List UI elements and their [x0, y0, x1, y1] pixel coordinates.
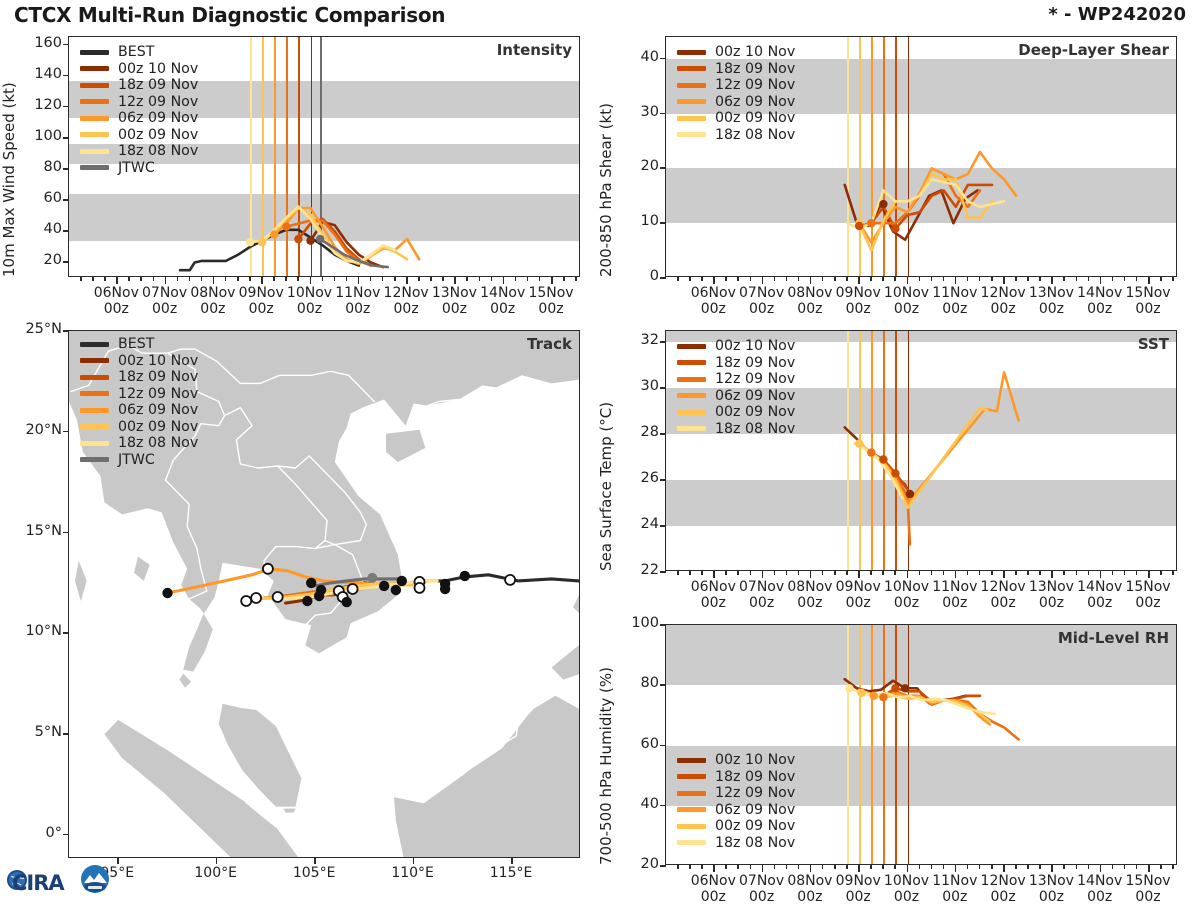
legend-swatch: [80, 83, 109, 88]
xtick-hour: 00z: [152, 301, 177, 317]
init-marker-5: [306, 237, 314, 245]
ytick-label-shear-4: 40: [621, 49, 659, 65]
xtick-minor: [689, 277, 691, 281]
legend-label: BEST: [118, 336, 154, 353]
xtick-hour: 00z: [797, 595, 822, 611]
landmass-hainan: [386, 430, 425, 462]
xtick-minor: [394, 277, 396, 281]
xtick-minor: [1112, 277, 1114, 281]
xtick-minor: [1039, 277, 1041, 281]
legend-swatch: [677, 393, 706, 398]
legend-label: 06z 09 Nov: [715, 94, 795, 111]
legend-item-intensity-3: 12z 09 Nov: [80, 94, 198, 111]
xtick-mark: [907, 277, 909, 284]
xtick-minor: [677, 571, 679, 575]
legend-swatch: [677, 360, 706, 365]
xtick-minor: [1088, 277, 1090, 281]
legend-label: 00z 09 Nov: [715, 404, 795, 421]
xtick-minor: [798, 865, 800, 869]
legend-swatch: [677, 758, 706, 763]
xtick-minor: [1136, 865, 1138, 869]
xtick-minor: [189, 277, 191, 281]
track-marker-filled-6: [379, 581, 389, 591]
ytick-label-sst-0: 22: [621, 562, 659, 578]
xtick-mark: [713, 865, 715, 872]
legend-label: 00z 09 Nov: [715, 110, 795, 127]
legend-item-track-6: 18z 08 Nov: [80, 435, 198, 452]
legend-item-rh-4: 00z 09 Nov: [677, 818, 795, 835]
legend-swatch: [80, 441, 109, 446]
legend-item-track-3: 12z 09 Nov: [80, 386, 198, 403]
xtick-mark: [955, 571, 957, 578]
init-marker-2: [867, 219, 875, 227]
map-ytick-4: 20°N: [2, 422, 62, 438]
xtick-minor: [80, 277, 82, 281]
legend-swatch: [677, 426, 706, 431]
legend-label: 18z 09 Nov: [118, 369, 198, 386]
xtick-hour: 00z: [1087, 889, 1112, 905]
ytick-label-rh-0: 20: [621, 856, 659, 872]
legend-item-rh-0: 00z 10 Nov: [677, 752, 795, 769]
legend-swatch: [80, 391, 109, 396]
xtick-mark: [1100, 277, 1102, 284]
xtick-mark: [1100, 865, 1102, 872]
legend-swatch: [80, 424, 109, 429]
xtick-minor: [1027, 865, 1029, 869]
init-marker-1: [867, 448, 875, 456]
yaxis-label-sst: Sea Surface Temp (°C): [597, 402, 615, 571]
legend-swatch: [80, 165, 109, 170]
map-xtick-1: 100°E: [176, 865, 256, 881]
track-marker-open-5: [348, 584, 358, 594]
xtick-mark: [1148, 277, 1150, 284]
legend-swatch: [677, 83, 706, 88]
xtick-day: 15Nov: [1125, 873, 1170, 889]
legend-item-track-2: 18z 09 Nov: [80, 369, 198, 386]
ytick-label-sst-3: 28: [621, 424, 659, 440]
track-marker-open-2: [241, 596, 251, 606]
init-marker-1: [258, 238, 266, 246]
svg-text:CIRA: CIRA: [12, 871, 65, 895]
xtick-hour: 00z: [1135, 889, 1160, 905]
track-marker-open-9: [505, 575, 515, 585]
xtick-minor: [1088, 865, 1090, 869]
ytick-mark: [660, 745, 666, 747]
ytick-mark: [63, 168, 69, 170]
init-marker-0: [246, 238, 254, 246]
legend-swatch: [677, 807, 706, 812]
xtick-day: 15Nov: [1125, 579, 1170, 595]
xtick-hour: 00z: [991, 301, 1016, 317]
map-ytick-mark: [63, 733, 69, 735]
legend-item-intensity-0: BEST: [80, 44, 198, 61]
xtick-minor: [1039, 571, 1041, 575]
xtick-minor: [689, 865, 691, 869]
map-xtick-mark: [216, 858, 218, 864]
legend-label: 00z 10 Nov: [715, 338, 795, 355]
legend-item-track-5: 00z 09 Nov: [80, 419, 198, 436]
legend-swatch: [677, 840, 706, 845]
legend-intensity: BEST00z 10 Nov18z 09 Nov12z 09 Nov06z 09…: [80, 44, 198, 176]
map-ytick-1: 5°N: [2, 724, 62, 740]
track-marker-open-1: [251, 593, 261, 603]
ytick-mark: [660, 684, 666, 686]
ytick-mark: [660, 277, 666, 279]
legend-item-intensity-4: 06z 09 Nov: [80, 110, 198, 127]
init-marker-3: [879, 693, 887, 701]
xtick-minor: [466, 277, 468, 281]
xtick-minor: [479, 277, 481, 281]
ytick-label-rh-2: 60: [621, 736, 659, 752]
ytick-label-sst-4: 30: [621, 378, 659, 394]
xtick-minor: [846, 277, 848, 281]
xtick-minor: [737, 865, 739, 869]
xtick-minor: [870, 277, 872, 281]
xtick-minor: [249, 277, 251, 281]
xtick-mark: [1148, 865, 1150, 872]
landmass-andaman: [75, 561, 87, 601]
xtick-minor: [1160, 571, 1162, 575]
xtick-hour: 00z: [797, 889, 822, 905]
xtick-hour: 00z: [1135, 301, 1160, 317]
track-marker-jtwc: [367, 573, 377, 583]
ytick-label-intensity-0: 20: [24, 252, 62, 268]
panel-title-shear: Deep-Layer Shear: [1018, 41, 1169, 59]
xtick-minor: [894, 865, 896, 869]
series-06z-09-Nov: [859, 152, 1016, 242]
xtick-minor: [834, 865, 836, 869]
legend-track: BEST00z 10 Nov18z 09 Nov12z 09 Nov06z 09…: [80, 336, 198, 468]
xtick-minor: [1124, 277, 1126, 281]
xtick-minor: [882, 277, 884, 281]
track-marker-filled-10: [460, 571, 470, 581]
ytick-mark: [63, 261, 69, 263]
legend-swatch: [677, 410, 706, 415]
ytick-label-rh-3: 80: [621, 675, 659, 691]
yaxis-label-rh: 700-500 hPa Humidity (%): [597, 667, 615, 865]
xtick-minor: [967, 865, 969, 869]
xtick-minor: [737, 571, 739, 575]
xtick-mark: [503, 277, 505, 284]
init-marker-2: [879, 455, 887, 463]
xtick-mark: [1051, 865, 1053, 872]
xtick-minor: [322, 277, 324, 281]
xtick-label-shear-9: 15Nov00z: [1112, 285, 1184, 317]
xtick-hour: 00z: [749, 301, 774, 317]
legend-item-track-7: JTWC: [80, 452, 198, 469]
legend-rh: 00z 10 Nov18z 09 Nov12z 09 Nov06z 09 Nov…: [677, 752, 795, 851]
xtick-minor: [1027, 571, 1029, 575]
xtick-minor: [1015, 571, 1017, 575]
xtick-minor: [92, 277, 94, 281]
header-bar: CTCX Multi-Run Diagnostic Comparison * -…: [0, 0, 1200, 30]
xtick-minor: [846, 571, 848, 575]
xtick-minor: [919, 865, 921, 869]
track-marker-filled-5: [342, 597, 352, 607]
cira-logo: CIRA: [6, 858, 118, 898]
xtick-mark: [1051, 571, 1053, 578]
legend-label: 06z 09 Nov: [118, 402, 198, 419]
xtick-hour: 00z: [297, 301, 322, 317]
ytick-label-sst-2: 26: [621, 470, 659, 486]
ytick-mark: [660, 865, 666, 867]
xtick-hour: 00z: [991, 595, 1016, 611]
xtick-minor: [1172, 571, 1174, 575]
legend-item-intensity-5: 00z 09 Nov: [80, 127, 198, 144]
legend-swatch: [80, 375, 109, 380]
xtick-day: 15Nov: [528, 285, 573, 301]
xtick-minor: [834, 277, 836, 281]
xtick-hour: 00z: [894, 301, 919, 317]
legend-swatch: [677, 66, 706, 71]
xtick-minor: [882, 865, 884, 869]
legend-item-rh-1: 18z 09 Nov: [677, 769, 795, 786]
legend-item-sst-5: 18z 08 Nov: [677, 421, 795, 438]
xtick-minor: [979, 865, 981, 869]
legend-swatch: [80, 99, 109, 104]
init-marker-0: [855, 439, 863, 447]
yaxis-label-shear: 200-850 hPa Shear (kt): [597, 103, 615, 277]
xtick-hour: 00z: [442, 301, 467, 317]
legend-swatch: [677, 774, 706, 779]
map-xtick-2: 105°E: [274, 865, 354, 881]
xtick-minor: [979, 277, 981, 281]
xtick-hour: 00z: [249, 301, 274, 317]
xtick-minor: [273, 277, 275, 281]
map-xtick-4: 115°E: [471, 865, 551, 881]
map-ytick-5: 25°N: [2, 321, 62, 337]
xtick-minor: [140, 277, 142, 281]
ytick-mark: [63, 137, 69, 139]
ytick-label-intensity-5: 120: [24, 97, 62, 113]
legend-item-shear-3: 06z 09 Nov: [677, 94, 795, 111]
xtick-minor: [1063, 277, 1065, 281]
xtick-minor: [1172, 277, 1174, 281]
xtick-minor: [237, 277, 239, 281]
legend-label: 18z 08 Nov: [118, 435, 198, 452]
xtick-hour: 00z: [749, 889, 774, 905]
xtick-minor: [919, 277, 921, 281]
ytick-mark: [660, 58, 666, 60]
xtick-minor: [1172, 865, 1174, 869]
legend-item-shear-0: 00z 10 Nov: [677, 44, 795, 61]
xtick-mark: [1051, 277, 1053, 284]
xtick-hour: 00z: [345, 301, 370, 317]
xtick-minor: [798, 277, 800, 281]
legend-label: JTWC: [118, 160, 155, 177]
landmass-borneo: [394, 696, 580, 858]
track-marker-open-0: [263, 564, 273, 574]
init-marker-1: [855, 222, 863, 230]
ytick-mark: [660, 433, 666, 435]
xtick-hour: 00z: [942, 301, 967, 317]
legend-item-sst-0: 00z 10 Nov: [677, 338, 795, 355]
xtick-label-intensity-9: 15Nov00z: [515, 285, 587, 317]
legend-label: 06z 09 Nov: [715, 388, 795, 405]
xtick-minor: [798, 571, 800, 575]
xtick-hour: 00z: [701, 889, 726, 905]
legend-swatch: [80, 66, 109, 71]
xtick-minor: [1027, 277, 1029, 281]
legend-item-track-1: 00z 10 Nov: [80, 353, 198, 370]
track-marker-filled-11: [440, 584, 450, 594]
legend-item-track-0: BEST: [80, 336, 198, 353]
legend-label: 18z 08 Nov: [118, 143, 198, 160]
xtick-minor: [725, 865, 727, 869]
legend-label: 12z 09 Nov: [715, 77, 795, 94]
xtick-mark: [1003, 277, 1005, 284]
track-marker-filled-3: [314, 591, 324, 601]
xtick-mark: [955, 865, 957, 872]
xtick-minor: [1136, 571, 1138, 575]
xtick-minor: [774, 277, 776, 281]
xtick-minor: [822, 277, 824, 281]
legend-swatch: [80, 342, 109, 347]
landmass-malay: [219, 704, 302, 807]
page-title: CTCX Multi-Run Diagnostic Comparison: [14, 3, 445, 27]
xtick-minor: [931, 277, 933, 281]
xtick-mark: [810, 277, 812, 284]
legend-item-rh-5: 18z 08 Nov: [677, 835, 795, 852]
ytick-label-intensity-4: 100: [24, 128, 62, 144]
xtick-hour: 00z: [846, 889, 871, 905]
legend-label: 00z 10 Nov: [715, 752, 795, 769]
xtick-minor: [677, 865, 679, 869]
xtick-hour: 00z: [1135, 595, 1160, 611]
panel-title-track: Track: [527, 335, 572, 353]
xtick-hour: 00z: [701, 301, 726, 317]
legend-item-intensity-1: 00z 10 Nov: [80, 61, 198, 78]
ytick-label-intensity-3: 80: [24, 159, 62, 175]
xtick-minor: [882, 571, 884, 575]
xtick-minor: [1015, 865, 1017, 869]
xtick-mark: [955, 277, 957, 284]
legend-item-sst-3: 06z 09 Nov: [677, 388, 795, 405]
ytick-mark: [63, 44, 69, 46]
xtick-minor: [822, 865, 824, 869]
legend-swatch: [677, 99, 706, 104]
xtick-minor: [225, 277, 227, 281]
xtick-minor: [931, 571, 933, 575]
landmass-phuket: [179, 674, 191, 688]
legend-item-sst-4: 00z 09 Nov: [677, 404, 795, 421]
xtick-mark: [406, 277, 408, 284]
map-ytick-2: 10°N: [2, 623, 62, 639]
legend-item-shear-1: 18z 09 Nov: [677, 61, 795, 78]
map-ytick-mark: [63, 330, 69, 332]
xtick-mark: [762, 277, 764, 284]
xtick-hour: 00z: [394, 301, 419, 317]
ytick-label-shear-1: 10: [621, 213, 659, 229]
legend-swatch: [80, 358, 109, 363]
ytick-label-shear-2: 20: [621, 158, 659, 174]
xtick-minor: [870, 571, 872, 575]
xtick-minor: [750, 277, 752, 281]
xtick-minor: [786, 865, 788, 869]
legend-label: 00z 09 Nov: [118, 127, 198, 144]
legend-swatch: [80, 457, 109, 462]
xtick-minor: [1063, 571, 1065, 575]
init-marker-2: [870, 692, 878, 700]
xtick-minor: [1124, 571, 1126, 575]
xtick-minor: [677, 277, 679, 281]
legend-label: 12z 09 Nov: [118, 386, 198, 403]
xtick-minor: [750, 865, 752, 869]
legend-item-intensity-7: JTWC: [80, 160, 198, 177]
xtick-hour: 00z: [1087, 301, 1112, 317]
legend-sst: 00z 10 Nov18z 09 Nov12z 09 Nov06z 09 Nov…: [677, 338, 795, 437]
init-marker-3: [282, 223, 290, 231]
xtick-minor: [774, 865, 776, 869]
init-marker-3: [879, 200, 887, 208]
xtick-mark: [1003, 571, 1005, 578]
ytick-label-rh-1: 40: [621, 796, 659, 812]
xtick-minor: [919, 571, 921, 575]
xtick-minor: [786, 571, 788, 575]
legend-item-track-4: 06z 09 Nov: [80, 402, 198, 419]
xtick-minor: [1160, 277, 1162, 281]
xtick-hour: 00z: [538, 301, 563, 317]
xtick-minor: [701, 865, 703, 869]
xtick-mark: [907, 571, 909, 578]
xtick-minor: [991, 277, 993, 281]
legend-item-intensity-6: 18z 08 Nov: [80, 143, 198, 160]
xtick-hour: 00z: [797, 301, 822, 317]
legend-swatch: [677, 132, 706, 137]
panel-title-rh: Mid-Level RH: [1058, 629, 1169, 647]
xtick-mark: [1100, 571, 1102, 578]
xtick-minor: [539, 277, 541, 281]
xtick-hour: 00z: [701, 595, 726, 611]
xtick-mark: [1148, 571, 1150, 578]
map-ytick-mark: [63, 834, 69, 836]
xtick-mark: [810, 571, 812, 578]
ytick-label-shear-3: 30: [621, 104, 659, 120]
xtick-minor: [943, 865, 945, 869]
storm-id-label: * - WP242020: [1048, 4, 1186, 25]
legend-label: 18z 09 Nov: [715, 355, 795, 372]
xtick-minor: [491, 277, 493, 281]
xtick-minor: [737, 277, 739, 281]
xtick-minor: [931, 865, 933, 869]
xtick-minor: [515, 277, 517, 281]
xtick-mark: [165, 277, 167, 284]
xtick-minor: [943, 277, 945, 281]
map-ytick-0: 0°: [2, 825, 62, 841]
panel-title-sst: SST: [1138, 335, 1169, 353]
landmass-philippines: [573, 591, 580, 615]
xtick-minor: [1076, 277, 1078, 281]
map-xtick-mark: [511, 858, 513, 864]
xtick-mark: [858, 277, 860, 284]
legend-swatch: [80, 132, 109, 137]
xtick-minor: [894, 277, 896, 281]
ytick-mark: [660, 222, 666, 224]
landmass-singapore: [284, 809, 296, 813]
xtick-mark: [213, 277, 215, 284]
legend-label: BEST: [118, 44, 154, 61]
ytick-mark: [63, 230, 69, 232]
ytick-mark: [660, 479, 666, 481]
landmass-island-a: [134, 557, 150, 581]
legend-swatch: [80, 50, 109, 55]
init-marker-0: [845, 684, 853, 692]
legend-label: 12z 09 Nov: [715, 785, 795, 802]
xtick-mark: [713, 571, 715, 578]
xtick-label-rh-9: 15Nov00z: [1112, 873, 1184, 905]
xtick-minor: [382, 277, 384, 281]
legend-label: 18z 08 Nov: [715, 421, 795, 438]
